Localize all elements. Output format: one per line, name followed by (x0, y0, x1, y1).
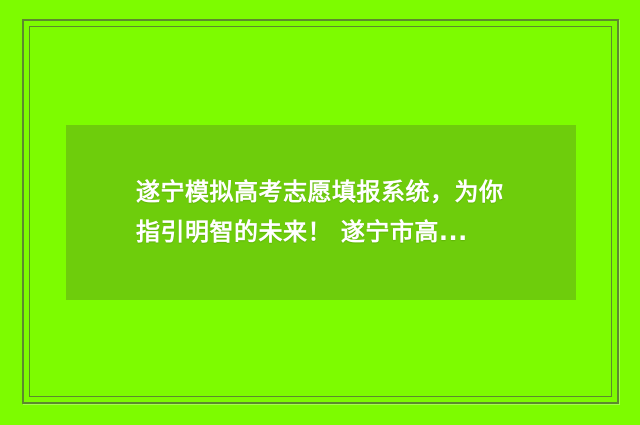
headline-text: 遂宁模拟高考志愿填报系统，为你指引明智的未来！ 遂宁市高... (136, 172, 516, 252)
headline-panel: 遂宁模拟高考志愿填报系统，为你指引明智的未来！ 遂宁市高... (66, 125, 576, 300)
banner-canvas: 遂宁模拟高考志愿填报系统，为你指引明智的未来！ 遂宁市高... (0, 0, 640, 425)
